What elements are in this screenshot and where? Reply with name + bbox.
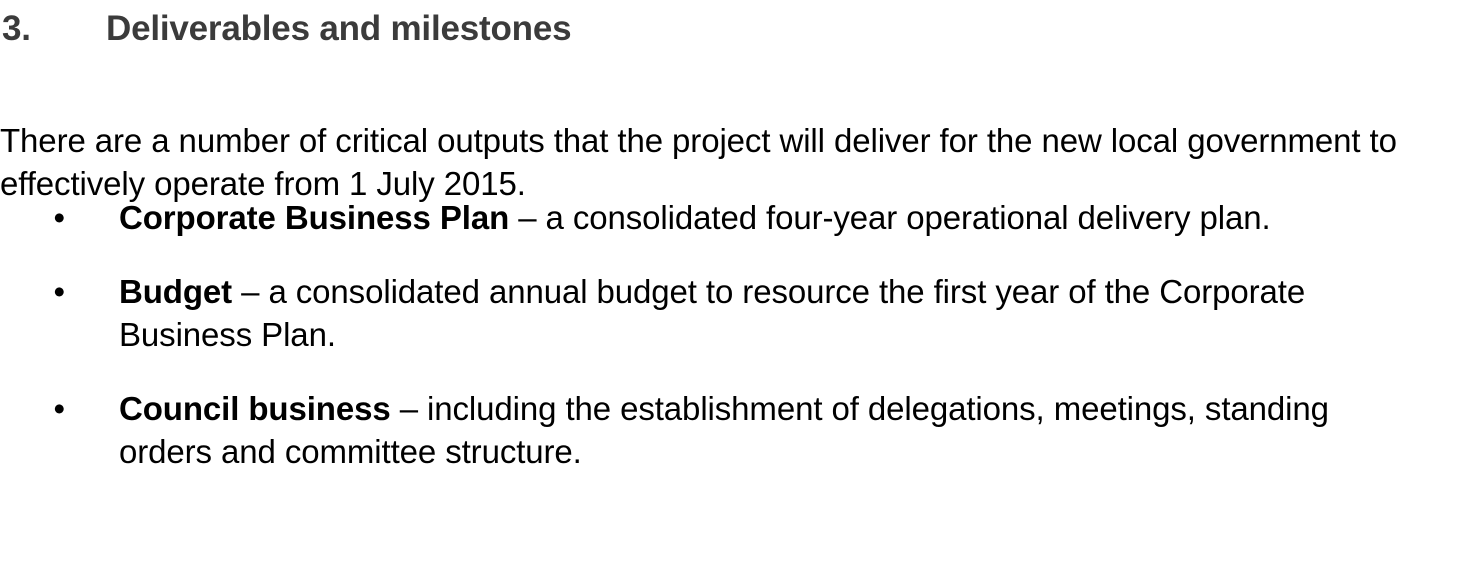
list-item-term: Council business (119, 390, 391, 427)
bullet-point-icon: • (0, 196, 65, 239)
section-number: 3. (2, 9, 106, 49)
list-item: • Budget – a consolidated annual budget … (0, 270, 1461, 356)
list-item: • Council business – including the estab… (0, 387, 1461, 473)
bullet-point-icon: • (0, 270, 65, 313)
list-item-text: Budget – a consolidated annual budget to… (65, 270, 1461, 356)
list-item-description: – a consolidated annual budget to resour… (119, 273, 1305, 353)
list-item-description: – a consolidated four-year operational d… (509, 199, 1270, 236)
list-item-text: Council business – including the establi… (65, 387, 1461, 473)
deliverables-bullet-list: • Corporate Business Plan – a consolidat… (0, 196, 1461, 473)
document-page: 3. Deliverables and milestones There are… (0, 0, 1461, 578)
list-item-term: Corporate Business Plan (119, 199, 509, 236)
list-item-term: Budget (119, 273, 232, 310)
page-title: 3. Deliverables and milestones (2, 9, 571, 49)
bullet-point-icon: • (0, 387, 65, 430)
section-title: Deliverables and milestones (106, 9, 571, 49)
list-item-text: Corporate Business Plan – a consolidated… (65, 196, 1461, 239)
intro-paragraph: There are a number of critical outputs t… (0, 119, 1461, 205)
list-item: • Corporate Business Plan – a consolidat… (0, 196, 1461, 239)
